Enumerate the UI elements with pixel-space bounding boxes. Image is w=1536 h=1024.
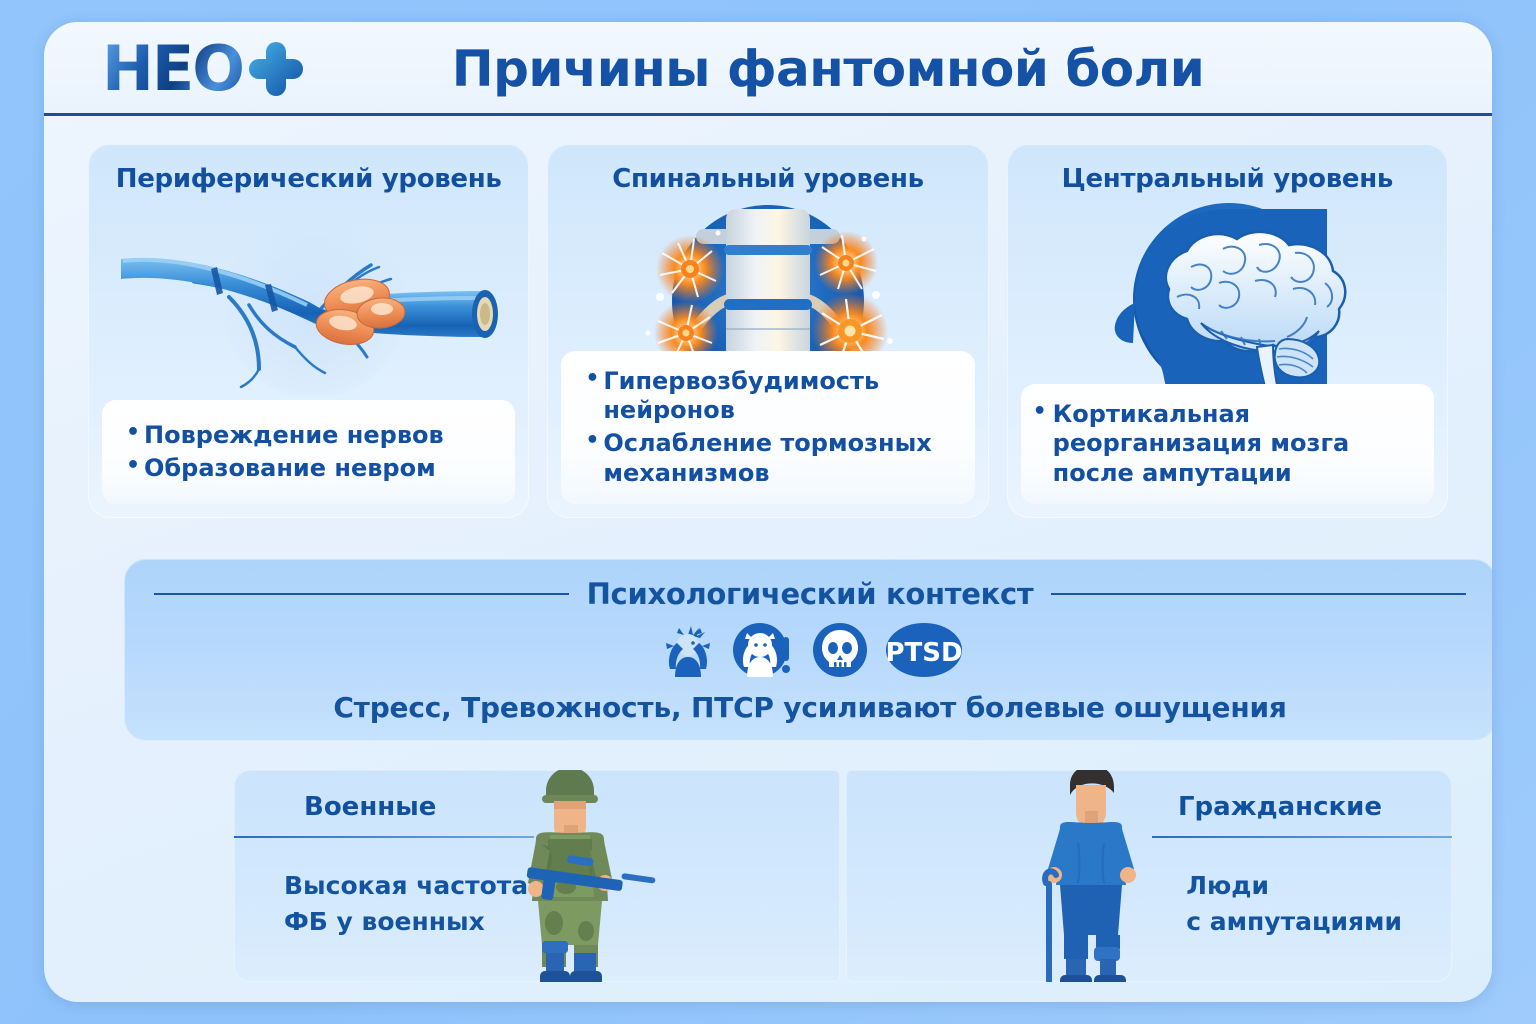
psych-icons-row: PTSD [124,619,1492,681]
divider-left [154,593,569,595]
level-card-spinal: Спинальный уровень [547,144,988,518]
level-title: Периферический уровень [88,144,529,194]
group-heading: Гражданские [1178,792,1382,822]
level-title: Центральный уровень [1007,144,1448,194]
damaged-nerve-neuroma-illustration [88,200,529,398]
group-heading: Военные [304,792,436,822]
level-title: Спинальный уровень [547,144,988,194]
spinal-bullets: Гипервозбудимость нейронов Ослабление то… [561,351,974,504]
bullet-item: Образование невром [124,454,505,483]
logo-text: НЕО [102,38,243,100]
skull-icon [809,619,871,681]
psychological-context-panel: Психологический контекст [124,559,1492,741]
group-divider [1152,836,1452,838]
group-text-line1: Люди [1186,868,1402,904]
psych-heading: Психологический контекст [587,577,1034,611]
bullet-item: Ослабление тормозных механизмов [583,429,964,488]
plus-icon [249,42,303,96]
levels-row: Периферический уровень [88,144,1448,518]
group-card-military: Военные Высокая частота ФБ у военных [234,770,840,982]
ptsd-badge-icon: PTSD [885,619,963,681]
group-text-line2: с ампутациями [1186,904,1402,940]
ptsd-label: PTSD [885,638,962,668]
bullet-item: Гипервозбудимость нейронов [583,367,964,426]
brain-head-illustration [1007,200,1448,398]
level-card-central: Центральный уровень [1007,144,1448,518]
group-text: Люди с ампутациями [1186,868,1402,941]
header-bar: Причины фантомной боли НЕО [44,22,1492,116]
group-card-civilian: Гражданские Люди с ампутациями [846,770,1452,982]
infographic-poster: Причины фантомной боли НЕО Периферически… [44,22,1492,1002]
bullet-item: Повреждение нервов [124,421,505,450]
psych-caption: Стресс, Тревожность, ПТСР усиливают боле… [124,691,1492,724]
civilian-with-cane-and-prosthetic-leg-illustration [996,770,1176,982]
anxiety-person-icon [733,619,795,681]
peripheral-bullets: Повреждение нервов Образование невром [102,400,515,504]
divider-right [1051,593,1466,595]
stress-person-icon [657,619,719,681]
population-groups-row: Военные Высокая частота ФБ у военных [234,770,1452,982]
level-card-peripheral: Периферический уровень [88,144,529,518]
soldier-with-prosthetic-leg-illustration [470,770,670,982]
brand-logo: НЕО [102,36,303,102]
bullet-item: Кортикальная реорганизация мозга после а… [1031,400,1424,488]
psych-heading-row: Психологический контекст [124,559,1492,611]
central-bullets: Кортикальная реорганизация мозга после а… [1021,384,1434,504]
